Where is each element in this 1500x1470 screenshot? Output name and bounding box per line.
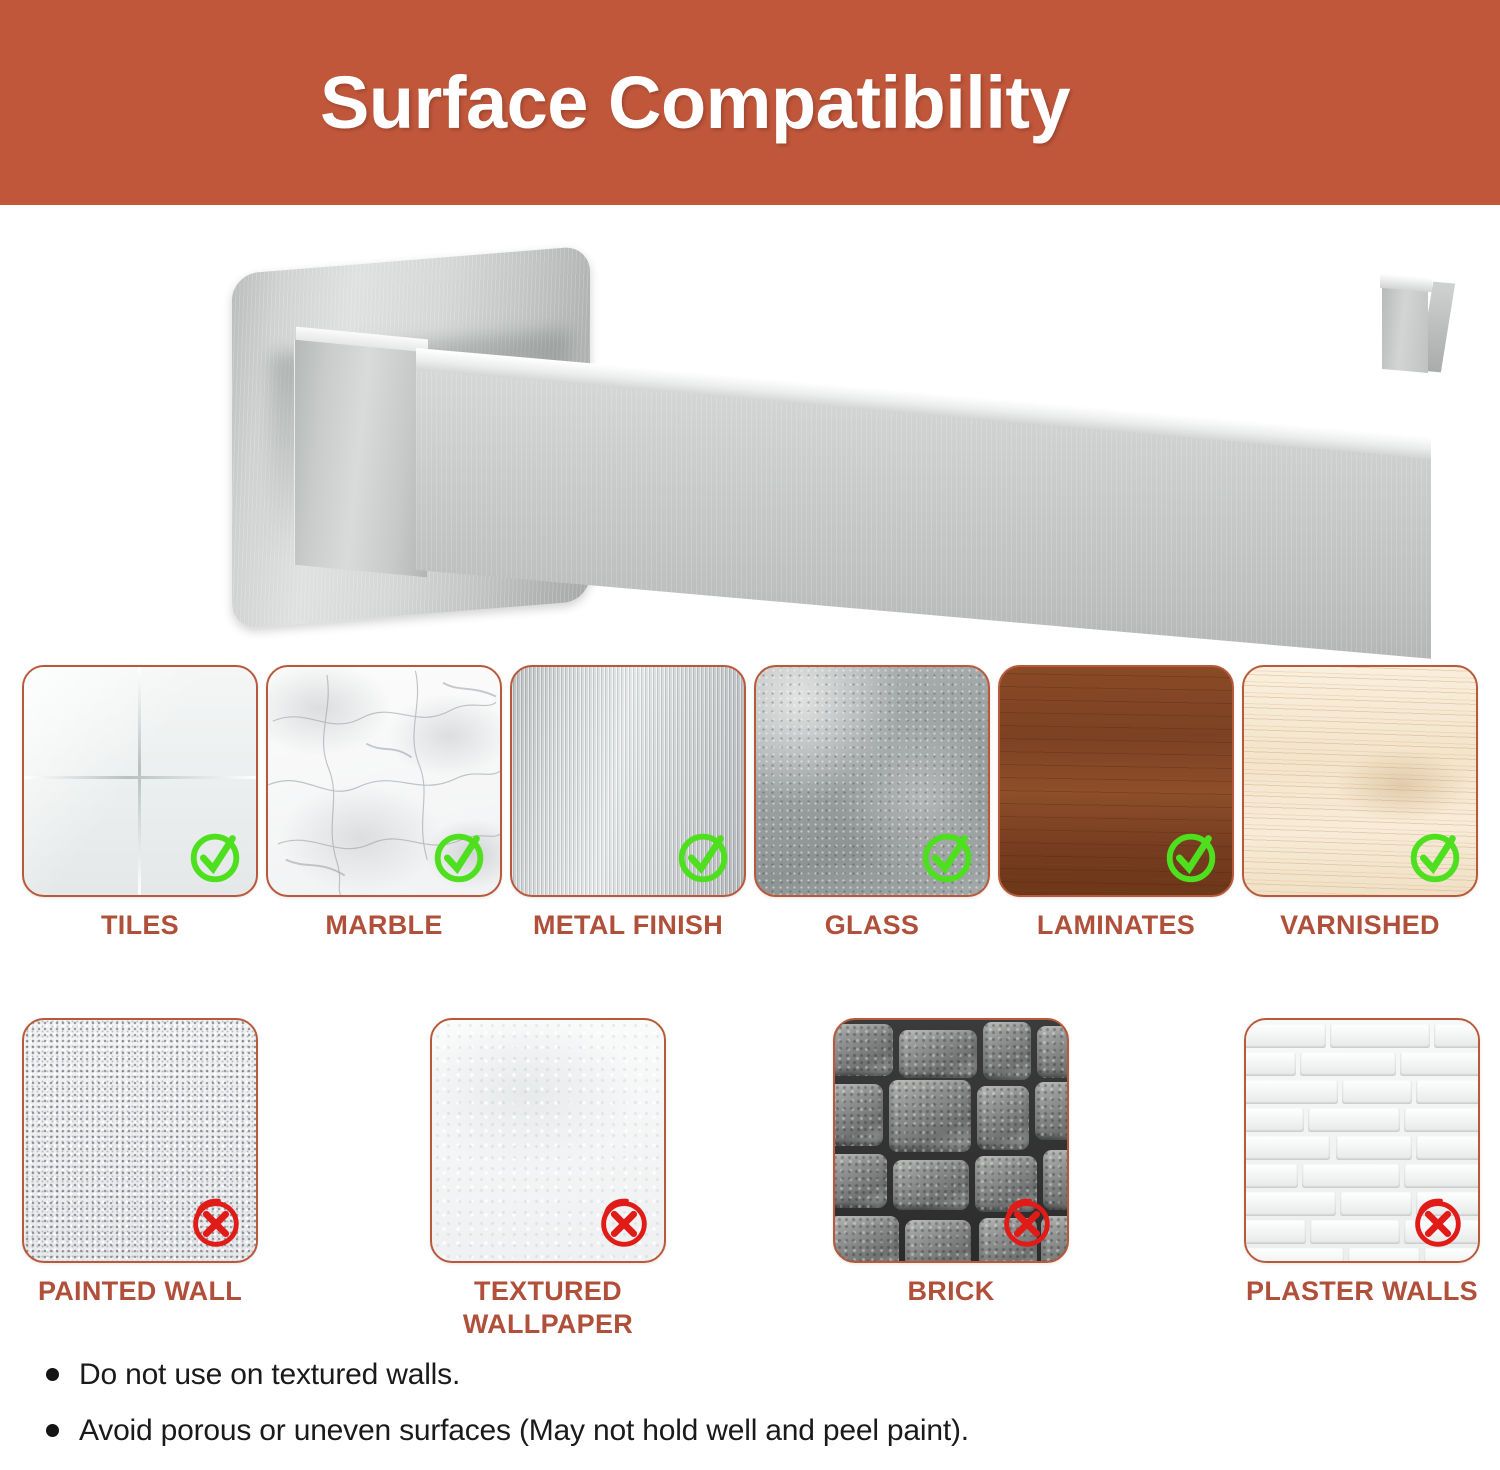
surface-label-varnished: VARNISHED: [1242, 909, 1478, 942]
check-circle-icon: [428, 825, 490, 887]
hero-product-section: [0, 205, 1500, 655]
surface-card-textured-wallpaper[interactable]: TEXTURED WALLPAPER: [430, 1018, 666, 1263]
plaster-brick: [1434, 1024, 1480, 1048]
surface-card-plaster-walls[interactable]: PLASTER WALLS: [1244, 1018, 1480, 1263]
plaster-brick: [1244, 1052, 1296, 1076]
plaster-brick: [1404, 1108, 1480, 1132]
brick-stone: [983, 1022, 1031, 1080]
plaster-brick: [1244, 1220, 1306, 1244]
plaster-brick: [1244, 1164, 1298, 1188]
surface-card-glass[interactable]: GLASS: [754, 665, 990, 897]
plaster-brick: [1342, 1080, 1412, 1104]
plaster-brick: [1336, 1136, 1412, 1160]
bullet-dot-icon: [46, 1424, 59, 1437]
cross-circle-icon: [184, 1191, 246, 1253]
surface-swatch-laminates: [998, 665, 1234, 897]
surface-card-marble[interactable]: MARBLE: [266, 665, 502, 897]
list-item: Do not use on textured walls.: [46, 1357, 1346, 1392]
plaster-brick: [1330, 1024, 1430, 1048]
surface-swatch-painted-wall: [22, 1018, 258, 1263]
surface-swatch-marble: [266, 665, 502, 897]
surface-card-laminates[interactable]: LAMINATES: [998, 665, 1234, 897]
plaster-brick: [1308, 1108, 1400, 1132]
surface-label-laminates: LAMINATES: [998, 909, 1234, 942]
plaster-brick: [1416, 1136, 1480, 1160]
check-circle-icon: [1404, 825, 1466, 887]
product-post-face: [294, 340, 427, 578]
surface-card-varnished[interactable]: VARNISHED: [1242, 665, 1478, 897]
surface-card-metal-finish[interactable]: METAL FINISH: [510, 665, 746, 897]
brick-stone: [977, 1086, 1029, 1150]
plaster-brick: [1400, 1052, 1480, 1076]
plaster-brick: [1404, 1164, 1480, 1188]
surface-label-textured-wallpaper: TEXTURED WALLPAPER: [430, 1275, 666, 1341]
page-title: Surface Compatibility: [320, 66, 1070, 140]
check-circle-icon: [916, 825, 978, 887]
surface-label-metal-finish: METAL FINISH: [510, 909, 746, 942]
surface-card-brick[interactable]: BRICK: [833, 1018, 1069, 1263]
page-header: Surface Compatibility: [0, 0, 1500, 205]
usage-note-text: Avoid porous or uneven surfaces (May not…: [79, 1413, 969, 1448]
check-circle-icon: [1160, 825, 1222, 887]
surface-swatch-textured-wallpaper: [430, 1018, 666, 1263]
cross-circle-icon: [592, 1191, 654, 1253]
brick-stone: [833, 1154, 887, 1208]
plaster-brick: [1244, 1080, 1338, 1104]
surface-swatch-glass: [754, 665, 990, 897]
brick-stone: [905, 1220, 971, 1263]
plaster-brick: [1310, 1220, 1400, 1244]
surface-label-brick: BRICK: [833, 1275, 1069, 1308]
surface-card-tiles[interactable]: TILES: [22, 665, 258, 897]
brick-stone: [899, 1030, 977, 1078]
bullet-dot-icon: [46, 1368, 59, 1381]
product-end-tip-face: [1382, 281, 1428, 373]
list-item: Avoid porous or uneven surfaces (May not…: [46, 1413, 1346, 1448]
plaster-brick: [1244, 1248, 1344, 1263]
surface-swatch-plaster-walls: [1244, 1018, 1480, 1263]
product-image-toilet-paper-holder: [230, 250, 1440, 625]
usage-notes-list: Do not use on textured walls. Avoid poro…: [46, 1357, 1346, 1470]
surface-label-glass: GLASS: [754, 909, 990, 942]
plaster-brick: [1244, 1108, 1304, 1132]
cross-circle-icon: [1406, 1191, 1468, 1253]
check-circle-icon: [184, 825, 246, 887]
plaster-brick: [1416, 1080, 1480, 1104]
cross-circle-icon: [995, 1191, 1057, 1253]
plaster-brick: [1340, 1192, 1412, 1216]
brick-stone: [1035, 1082, 1069, 1140]
surface-card-painted-wall[interactable]: PAINTED WALL: [22, 1018, 258, 1263]
tiles-grout-horizontal: [24, 776, 256, 779]
check-circle-icon: [672, 825, 734, 887]
usage-note-text: Do not use on textured walls.: [79, 1357, 460, 1392]
tiles-grout-vertical: [138, 667, 141, 895]
brick-stone: [833, 1024, 893, 1076]
brick-stone: [889, 1080, 971, 1152]
plaster-brick: [1300, 1052, 1396, 1076]
brick-stone: [893, 1160, 969, 1210]
incompatible-surfaces-row: PAINTED WALL TEXTURED WALLPAPER: [0, 1018, 1500, 1323]
brick-stone: [833, 1216, 899, 1263]
brick-stone: [1037, 1026, 1069, 1078]
surface-swatch-metal-finish: [510, 665, 746, 897]
brick-stone: [833, 1084, 883, 1146]
compatible-surfaces-row: TILES MARBLE: [0, 665, 1500, 955]
plaster-brick: [1302, 1164, 1400, 1188]
surface-label-painted-wall: PAINTED WALL: [22, 1275, 258, 1308]
surface-swatch-tiles: [22, 665, 258, 897]
surface-label-marble: MARBLE: [266, 909, 502, 942]
plaster-brick: [1244, 1024, 1326, 1048]
surface-swatch-brick: [833, 1018, 1069, 1263]
plaster-brick: [1244, 1192, 1336, 1216]
plaster-brick: [1244, 1136, 1330, 1160]
surface-label-plaster-walls: PLASTER WALLS: [1244, 1275, 1480, 1308]
surface-label-tiles: TILES: [22, 909, 258, 942]
surface-swatch-varnished: [1242, 665, 1478, 897]
